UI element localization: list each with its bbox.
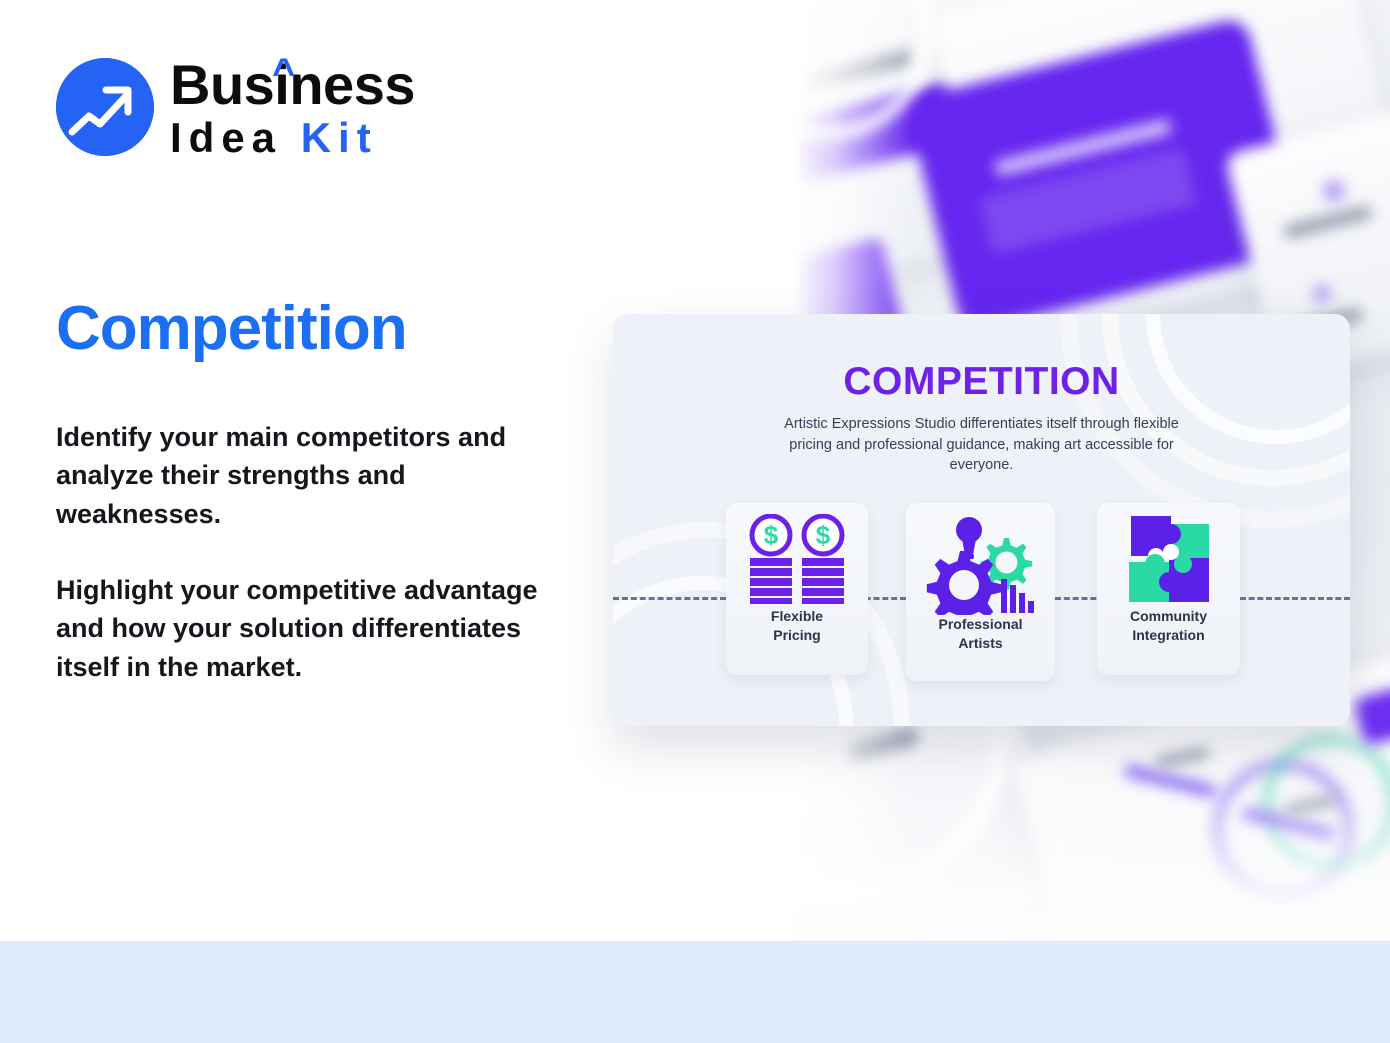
- svg-text:$: $: [764, 520, 779, 550]
- feature-card-professional-artists[interactable]: Professional Artists: [906, 503, 1055, 681]
- photo-dot-1: [1323, 180, 1345, 202]
- photo-dot-2: [1313, 285, 1331, 303]
- feature-label-line2: Integration: [1132, 627, 1204, 643]
- brand-circumflex-accent: ^: [272, 53, 295, 93]
- brand-wordmark: Business ^ Idea Kit: [170, 55, 415, 159]
- feature-label-line1: Professional: [938, 616, 1022, 632]
- feature-card-flexible-pricing[interactable]: $ $: [726, 503, 868, 675]
- description-paragraph-1: Identify your main competitors and analy…: [56, 418, 576, 533]
- coin-stacks-icon: $ $: [745, 503, 849, 607]
- puzzle-pieces-icon: [1121, 503, 1217, 607]
- page-description: Identify your main competitors and analy…: [56, 418, 576, 686]
- feature-card-label: Professional Artists: [938, 615, 1022, 653]
- feature-label-line2: Artists: [958, 635, 1002, 651]
- page-title: Competition: [56, 296, 407, 361]
- brand-name-line2: Idea Kit: [170, 117, 415, 159]
- feature-label-line2: Pricing: [773, 627, 820, 643]
- brand-name-idea: Idea: [170, 114, 282, 161]
- bar-chart-part: [1001, 579, 1034, 613]
- feature-card-group: $ $: [613, 314, 1350, 726]
- description-paragraph-2: Highlight your competitive advantage and…: [56, 571, 576, 686]
- trending-up-arrow-icon: [56, 58, 154, 156]
- photo-bottom-fade: [793, 791, 1390, 941]
- svg-text:$: $: [816, 520, 831, 550]
- feature-card-label: Community Integration: [1130, 607, 1207, 645]
- gears-lightbulb-chart-icon: [925, 503, 1037, 615]
- brand-name-line1: Business ^: [170, 57, 415, 113]
- feature-card-label: Flexible Pricing: [771, 607, 823, 645]
- feature-card-community-integration[interactable]: Community Integration: [1097, 503, 1240, 675]
- feature-label-line1: Flexible: [771, 608, 823, 624]
- brand-name-kit: Kit: [301, 114, 378, 161]
- feature-label-line1: Community: [1130, 608, 1207, 624]
- slide-page: Business ^ Idea Kit Competition Identify…: [0, 0, 1390, 1043]
- slide-preview-card[interactable]: COMPETITION Artistic Expressions Studio …: [613, 314, 1350, 726]
- bottom-accent-strip: [0, 941, 1390, 1043]
- brand-logo: Business ^ Idea Kit: [56, 55, 415, 159]
